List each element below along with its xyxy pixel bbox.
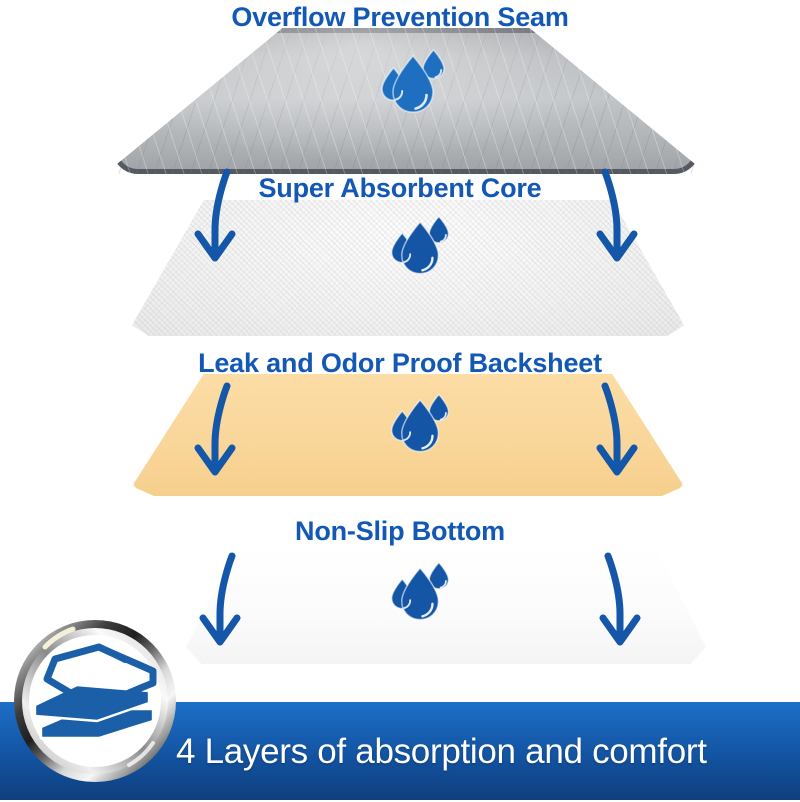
product-infographic: Overflow Prevention Seam Super Absorbent… xyxy=(0,0,800,800)
downward-flow-arrow-right-2 xyxy=(575,382,647,482)
layer-1-label: Overflow Prevention Seam xyxy=(0,2,800,33)
downward-flow-arrow-left-2 xyxy=(185,382,257,482)
downward-flow-arrow-right-3 xyxy=(578,552,650,652)
water-droplets-icon xyxy=(388,392,454,454)
banner-caption: 4 Layers of absorption and comfort xyxy=(176,702,792,802)
downward-flow-arrow-left-3 xyxy=(190,552,262,652)
stacked-layers-badge xyxy=(11,617,179,785)
layer-4-label: Non-Slip Bottom xyxy=(0,516,800,547)
water-droplets-icon xyxy=(378,48,450,114)
water-droplets-icon xyxy=(388,560,454,622)
water-droplets-icon xyxy=(388,214,454,276)
layer-2-label: Super Absorbent Core xyxy=(0,173,800,204)
layer-3-label: Leak and Odor Proof Backsheet xyxy=(0,348,800,379)
